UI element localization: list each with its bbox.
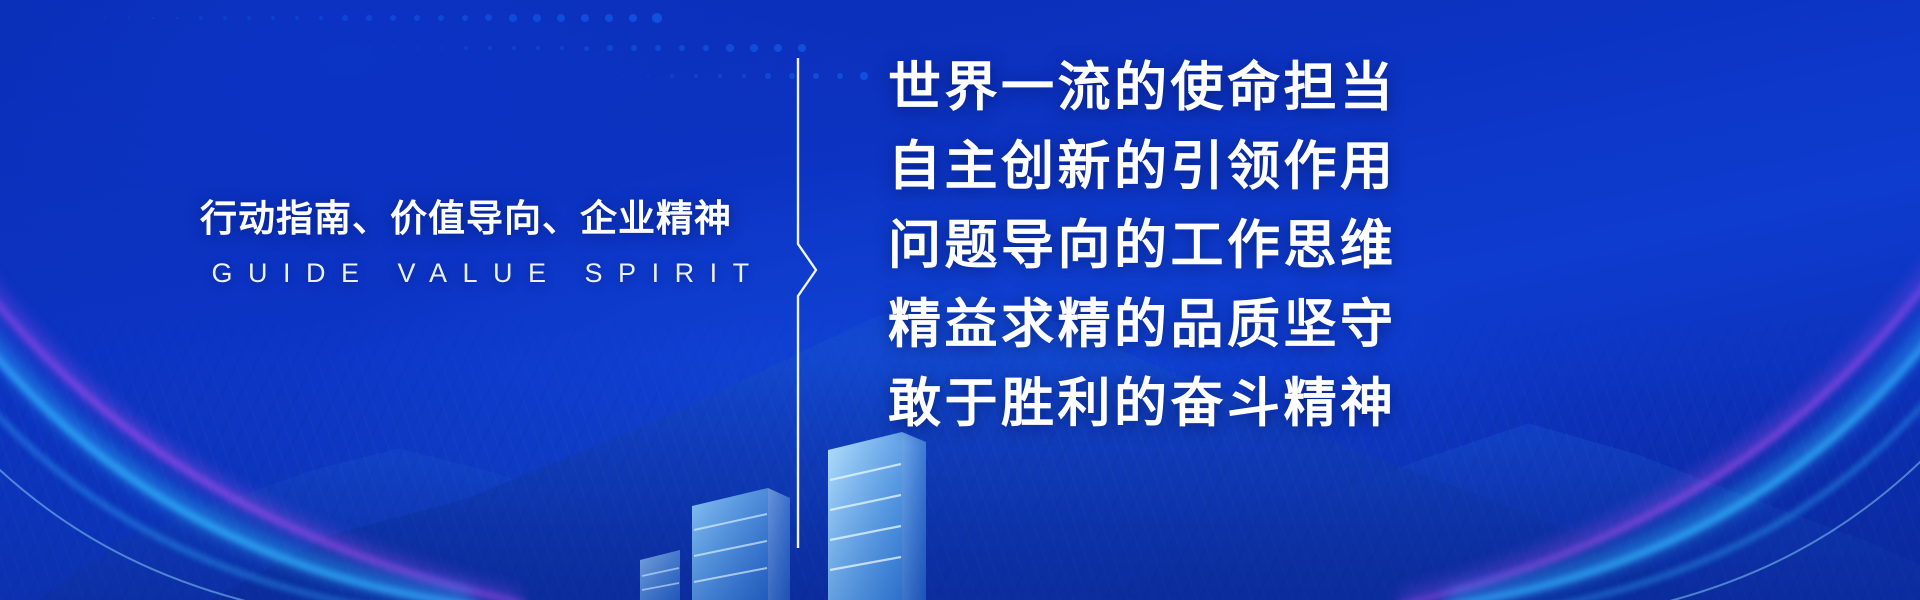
culture-banner: 行动指南、价值导向、企业精神 GUIDE VALUE SPIRIT 世界一流的使… xyxy=(0,0,1920,600)
arc-group-left xyxy=(0,250,525,600)
halftone-dots-top-left xyxy=(0,0,560,90)
building-mid xyxy=(692,488,790,600)
building-tall xyxy=(828,432,926,600)
mountain-ridge-left xyxy=(38,370,858,600)
building-small xyxy=(640,550,680,600)
principle-line-3: 问题导向的工作思维 xyxy=(888,206,1688,285)
principle-line-5: 敢于胜利的奋斗精神 xyxy=(888,364,1688,443)
left-slogan-subtitle: GUIDE VALUE SPIRIT xyxy=(196,258,736,289)
chevron-divider-icon xyxy=(790,58,830,548)
principles-list: 世界一流的使命担当 自主创新的引领作用 问题导向的工作思维 精益求精的品质坚守 … xyxy=(888,48,1688,443)
left-slogan-title: 行动指南、价值导向、企业精神 xyxy=(196,196,736,242)
principle-line-2: 自主创新的引领作用 xyxy=(888,127,1688,206)
principle-line-4: 精益求精的品质坚守 xyxy=(888,285,1688,364)
principle-line-1: 世界一流的使命担当 xyxy=(888,48,1688,127)
left-slogan-block: 行动指南、价值导向、企业精神 GUIDE VALUE SPIRIT xyxy=(196,196,736,289)
